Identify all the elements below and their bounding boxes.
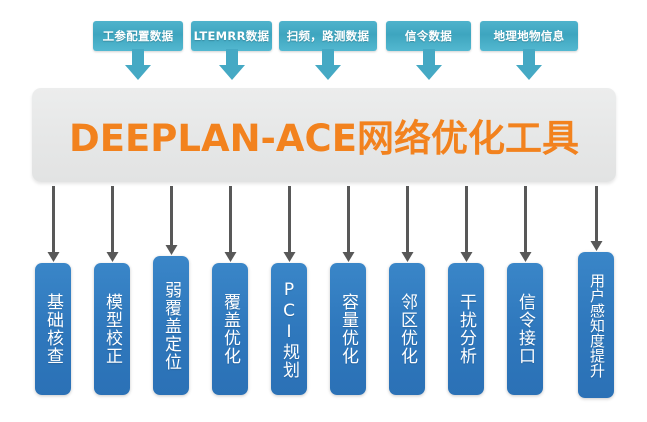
data-source-box-1: 工参配置数据 <box>93 21 183 51</box>
module-down-arrow-icon-5 <box>283 186 296 262</box>
deeplan-ace-architecture-diagram: 工参配置数据LTEMRR数据扫频，路测数据信令数据地理地物信息 DEEPLAN-… <box>0 0 647 422</box>
module-down-arrow-icon-1 <box>47 186 60 262</box>
module-down-arrow-icon-10 <box>590 186 603 251</box>
module-label: 邻区优化 <box>398 293 416 365</box>
data-source-label: 扫频，路测数据 <box>287 28 370 44</box>
module-label: 模型校正 <box>103 293 121 365</box>
module-down-arrow-icon-6 <box>342 186 355 262</box>
source-down-arrow-icon-3 <box>314 49 342 82</box>
module-box-7[interactable]: 邻区优化 <box>389 263 425 395</box>
source-down-arrow-icon-1 <box>124 49 152 82</box>
module-box-1[interactable]: 基础核查 <box>35 263 71 395</box>
source-down-arrow-icon-4 <box>415 49 443 82</box>
module-label: 信令接口 <box>516 293 534 365</box>
module-label: 弱覆盖定位 <box>162 281 180 371</box>
module-box-5[interactable]: PCI规划 <box>271 263 307 395</box>
module-box-4[interactable]: 覆盖优化 <box>212 263 248 395</box>
module-box-3[interactable]: 弱覆盖定位 <box>153 256 189 395</box>
module-label: 覆盖优化 <box>221 293 239 365</box>
module-down-arrow-icon-8 <box>460 186 473 262</box>
module-label: 基础核查 <box>44 293 62 365</box>
module-down-arrow-icon-9 <box>519 186 532 262</box>
module-down-arrow-icon-3 <box>165 186 178 255</box>
module-label: PCI规划 <box>280 280 298 379</box>
data-source-box-5: 地理地物信息 <box>480 21 578 51</box>
data-source-label: LTEMRR数据 <box>194 28 270 44</box>
module-label: 干扰分析 <box>457 293 475 365</box>
product-title-banner: DEEPLAN-ACE网络优化工具 <box>32 88 616 182</box>
module-label: 用户感知度提升 <box>588 273 604 378</box>
module-down-arrow-icon-2 <box>106 186 119 262</box>
data-source-box-3: 扫频，路测数据 <box>279 21 377 51</box>
data-source-box-4: 信令数据 <box>386 21 471 51</box>
module-down-arrow-icon-4 <box>224 186 237 262</box>
module-box-2[interactable]: 模型校正 <box>94 263 130 395</box>
module-label: 容量优化 <box>339 293 357 365</box>
module-down-arrow-icon-7 <box>401 186 414 262</box>
product-title-text: DEEPLAN-ACE网络优化工具 <box>69 108 579 162</box>
source-down-arrow-icon-5 <box>515 49 543 82</box>
source-down-arrow-icon-2 <box>218 49 246 82</box>
module-box-8[interactable]: 干扰分析 <box>448 263 484 395</box>
module-box-9[interactable]: 信令接口 <box>507 263 543 395</box>
module-box-6[interactable]: 容量优化 <box>330 263 366 395</box>
data-source-box-2: LTEMRR数据 <box>191 21 272 51</box>
data-source-label: 工参配置数据 <box>103 28 174 44</box>
data-source-label: 地理地物信息 <box>494 28 565 44</box>
module-box-10[interactable]: 用户感知度提升 <box>578 252 614 398</box>
data-source-label: 信令数据 <box>405 28 452 44</box>
